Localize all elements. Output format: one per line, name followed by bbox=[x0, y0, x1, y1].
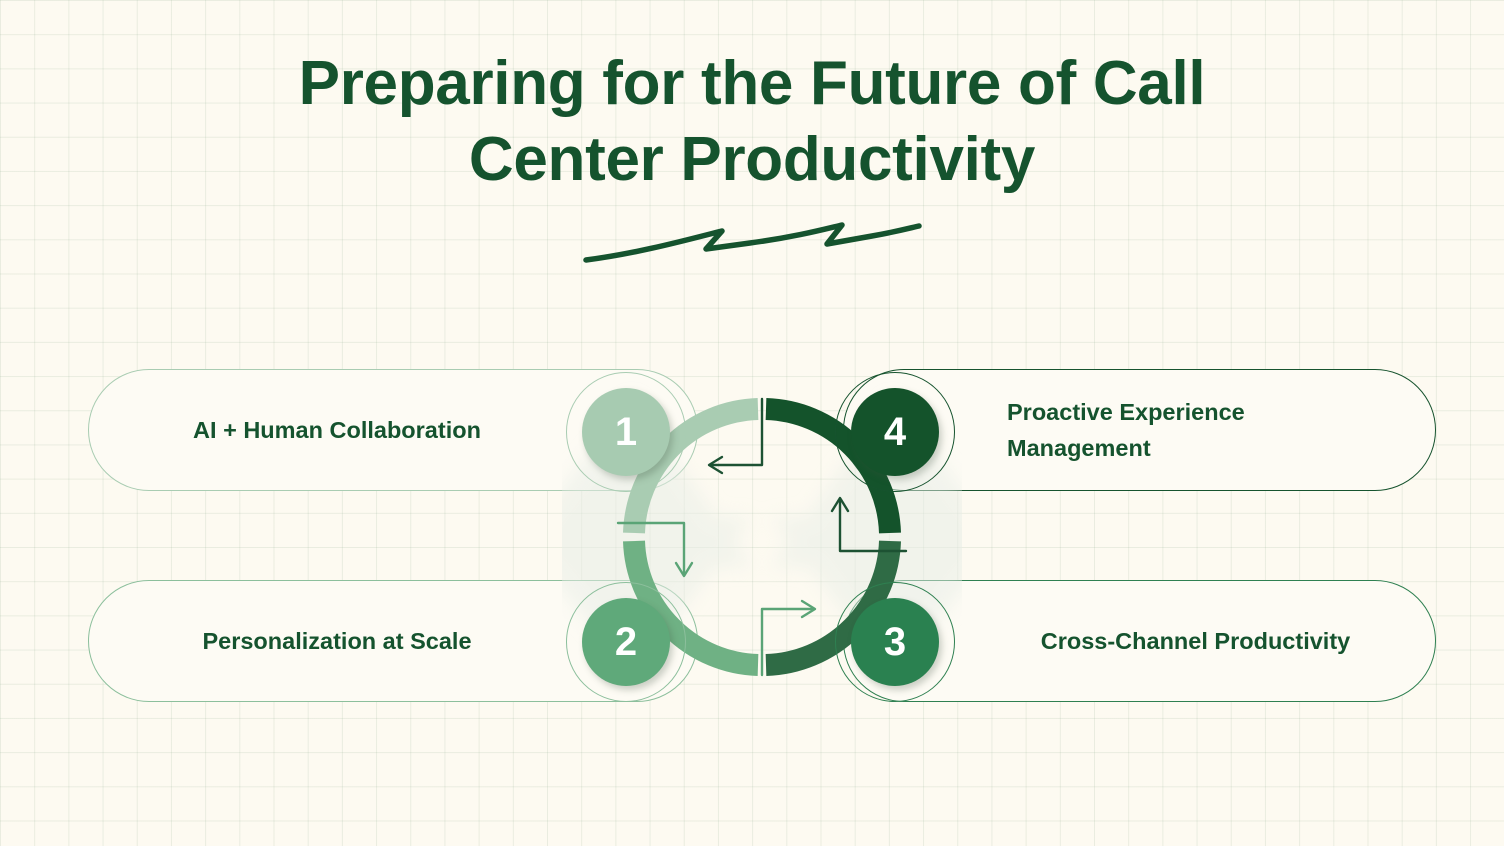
step-number-2: 2 bbox=[615, 620, 637, 665]
step-label-4-line1: Proactive Experience bbox=[1007, 399, 1245, 425]
step-number-4: 4 bbox=[884, 410, 906, 455]
page-title: Preparing for the Future of Call Center … bbox=[222, 46, 1282, 197]
step-circle-4[interactable]: 4 bbox=[851, 388, 939, 476]
step-circle-1[interactable]: 1 bbox=[582, 388, 670, 476]
step-number-1: 1 bbox=[615, 410, 637, 455]
step-label-4-line2: Management bbox=[1007, 435, 1151, 461]
squiggle-flourish-icon bbox=[580, 205, 925, 275]
slide-canvas: Preparing for the Future of Call Center … bbox=[0, 0, 1504, 846]
step-circle-3[interactable]: 3 bbox=[851, 598, 939, 686]
step-circle-2[interactable]: 2 bbox=[582, 598, 670, 686]
title-block: Preparing for the Future of Call Center … bbox=[0, 46, 1504, 197]
step-number-3: 3 bbox=[884, 620, 906, 665]
